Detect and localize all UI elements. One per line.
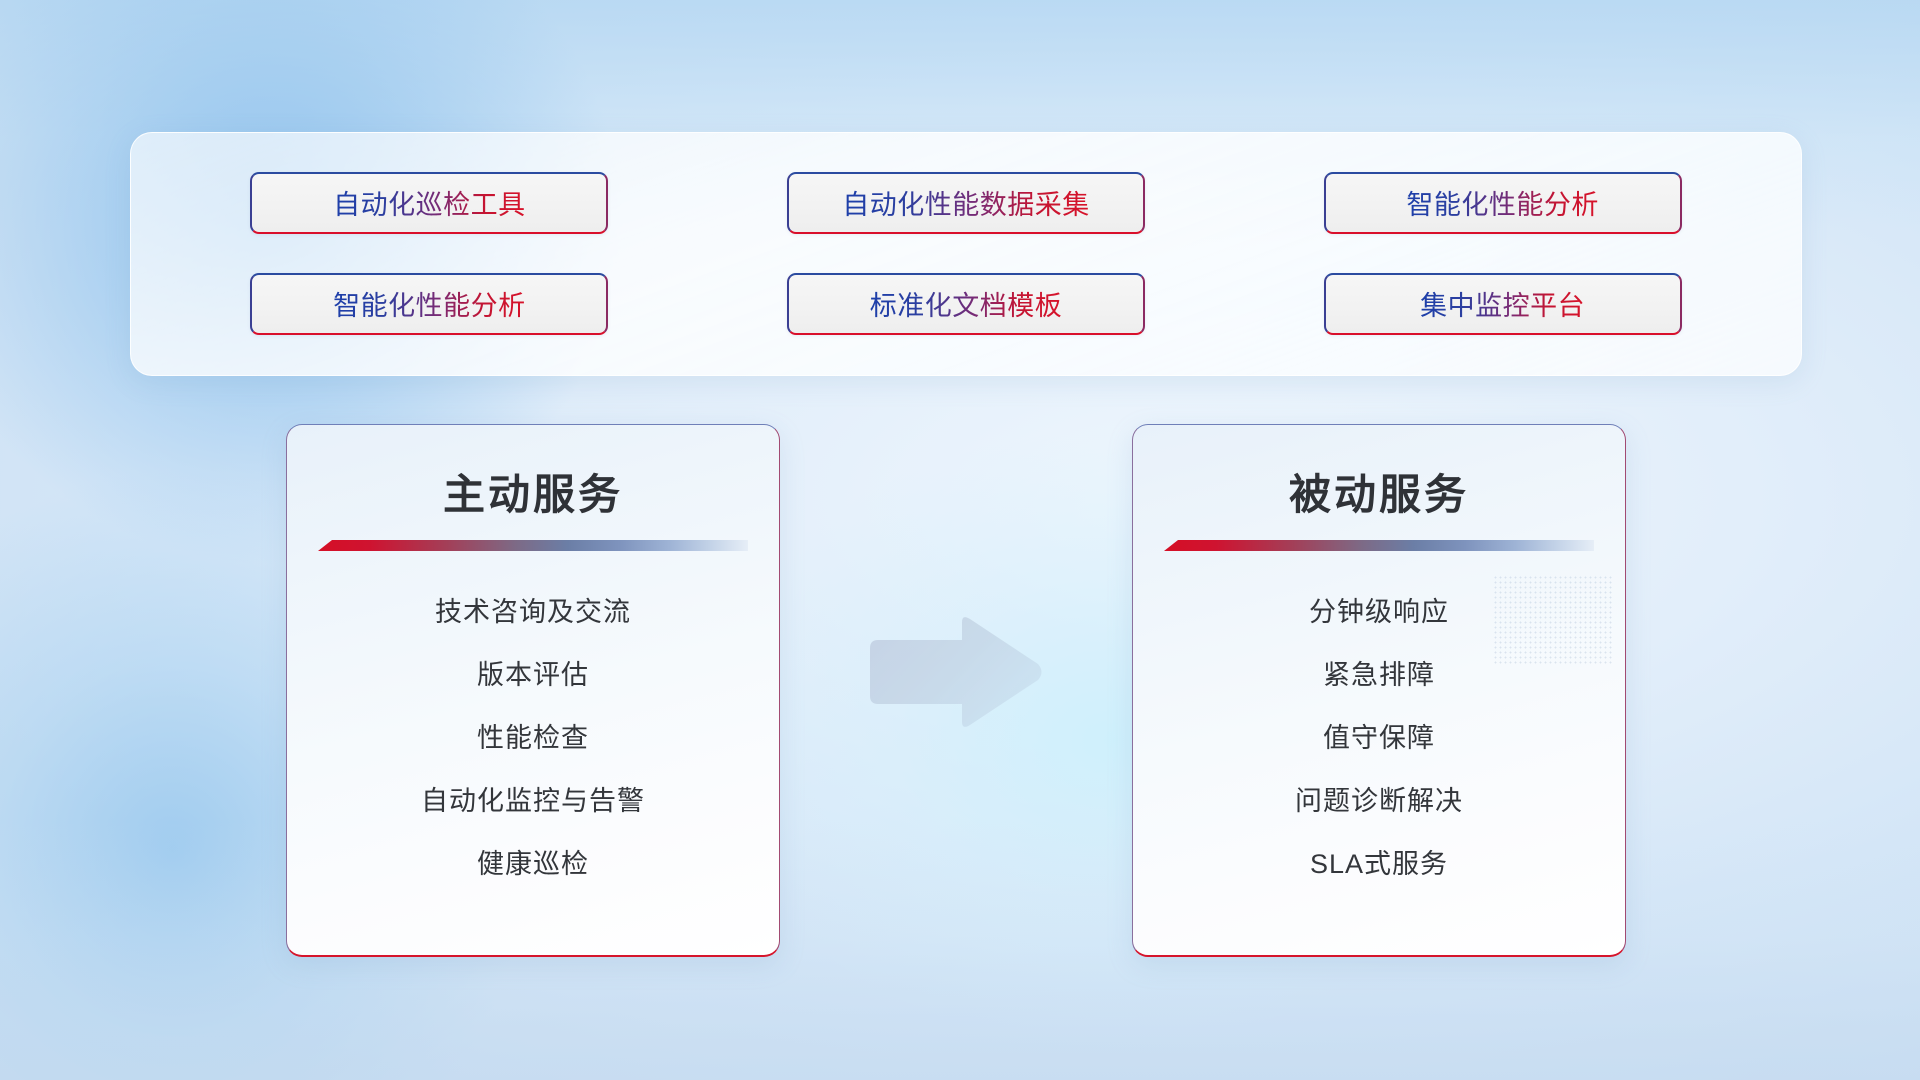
- service-card-passive: 被动服务 分钟级响应 紧急排障 值守保障 问题诊断解决 SLA式服务: [1132, 424, 1626, 957]
- service-list-item[interactable]: 值守保障: [1133, 707, 1625, 770]
- service-list-item[interactable]: 健康巡检: [287, 833, 779, 896]
- capability-pill-label: 自动化巡检工具: [333, 183, 526, 222]
- capability-pill-1[interactable]: 自动化巡检工具: [250, 172, 608, 234]
- card-title: 主动服务: [287, 461, 779, 522]
- capability-pill-label: 智能化性能分析: [333, 284, 526, 323]
- service-list-item[interactable]: 问题诊断解决: [1133, 770, 1625, 833]
- capability-pill-5[interactable]: 标准化文档模板: [787, 273, 1145, 335]
- capability-pill-label: 集中监控平台: [1420, 284, 1585, 323]
- capability-pill-3[interactable]: 智能化性能分析: [1324, 172, 1682, 234]
- service-card-active: 主动服务 技术咨询及交流 版本评估 性能检查 自动化监控与告警 健康巡检: [286, 424, 780, 957]
- capability-pill-2[interactable]: 自动化性能数据采集: [787, 172, 1145, 234]
- service-item-list: 分钟级响应 紧急排障 值守保障 问题诊断解决 SLA式服务: [1133, 581, 1625, 896]
- service-list-item[interactable]: 版本评估: [287, 644, 779, 707]
- capability-pill-label: 标准化文档模板: [870, 284, 1063, 323]
- capability-pill-6[interactable]: 集中监控平台: [1324, 273, 1682, 335]
- capability-pill-4[interactable]: 智能化性能分析: [250, 273, 608, 335]
- card-divider: [1164, 540, 1594, 551]
- card-title: 被动服务: [1133, 461, 1625, 522]
- capability-pill-grid: 自动化巡检工具 自动化性能数据采集 智能化性能分析 智能化性能分析 标准化文档模…: [131, 133, 1801, 375]
- service-list-item[interactable]: 分钟级响应: [1133, 581, 1625, 644]
- capability-panel: 自动化巡检工具 自动化性能数据采集 智能化性能分析 智能化性能分析 标准化文档模…: [130, 132, 1802, 376]
- service-item-list: 技术咨询及交流 版本评估 性能检查 自动化监控与告警 健康巡检: [287, 581, 779, 896]
- service-list-item[interactable]: SLA式服务: [1133, 833, 1625, 896]
- arrow-right-icon: [866, 612, 1046, 732]
- service-list-item[interactable]: 紧急排障: [1133, 644, 1625, 707]
- card-divider-bar: [1164, 540, 1594, 551]
- service-list-item[interactable]: 技术咨询及交流: [287, 581, 779, 644]
- capability-pill-label: 自动化性能数据采集: [842, 183, 1090, 222]
- service-list-item[interactable]: 自动化监控与告警: [287, 770, 779, 833]
- service-list-item[interactable]: 性能检查: [287, 707, 779, 770]
- capability-pill-label: 智能化性能分析: [1406, 183, 1599, 222]
- card-divider: [318, 540, 748, 551]
- card-divider-bar: [318, 540, 748, 551]
